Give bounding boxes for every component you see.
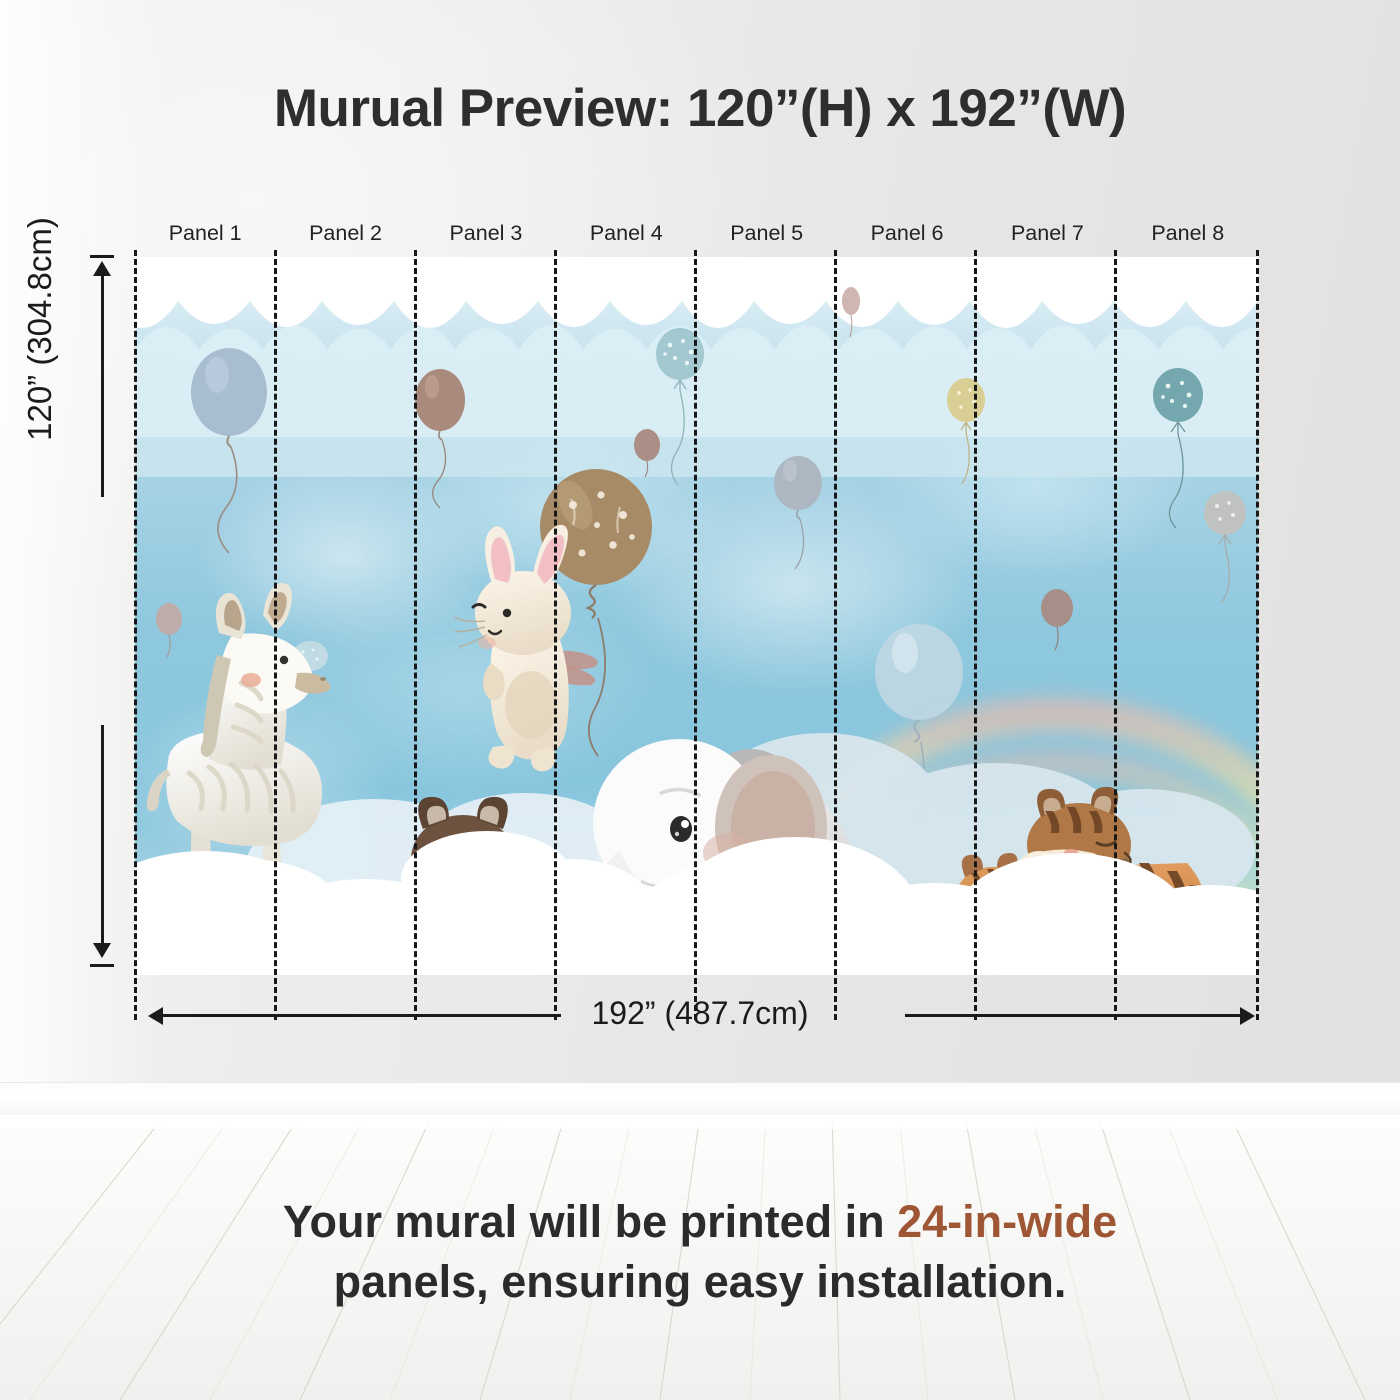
mural-preview-image <box>135 257 1258 975</box>
height-line-lower <box>101 725 104 951</box>
installation-caption: Your mural will be printed in 24-in-wide… <box>0 1192 1400 1312</box>
panel-label-6: Panel 6 <box>837 218 977 252</box>
width-dimension: 192” (487.7cm) <box>140 995 1260 1037</box>
mural-artwork <box>135 257 1258 975</box>
height-line-upper <box>101 269 104 497</box>
panel-label-4: Panel 4 <box>556 218 696 252</box>
baseboard <box>0 1082 1400 1118</box>
panel-label-8: Panel 8 <box>1118 218 1258 252</box>
width-line-left <box>156 1014 561 1017</box>
page-title: Murual Preview: 120”(H) x 192”(W) <box>0 78 1400 139</box>
panel-label-7: Panel 7 <box>977 218 1117 252</box>
panel-label-5: Panel 5 <box>697 218 837 252</box>
caption-line1-before: Your mural will be printed in <box>283 1196 897 1247</box>
caption-accent: 24-in-wide <box>897 1196 1117 1247</box>
height-dimension <box>82 255 122 967</box>
height-dimension-label: 120” (304.8cm) <box>21 179 59 479</box>
width-dimension-label: 192” (487.7cm) <box>550 995 850 1032</box>
width-line-right <box>905 1014 1245 1017</box>
height-tick-top <box>90 255 114 258</box>
height-tick-bottom <box>90 964 114 967</box>
panel-label-1: Panel 1 <box>135 218 275 252</box>
panel-label-3: Panel 3 <box>416 218 556 252</box>
panel-label-row: Panel 1 Panel 2 Panel 3 Panel 4 Panel 5 … <box>135 218 1258 252</box>
caption-line2: panels, ensuring easy installation. <box>334 1256 1067 1307</box>
panel-label-2: Panel 2 <box>275 218 415 252</box>
